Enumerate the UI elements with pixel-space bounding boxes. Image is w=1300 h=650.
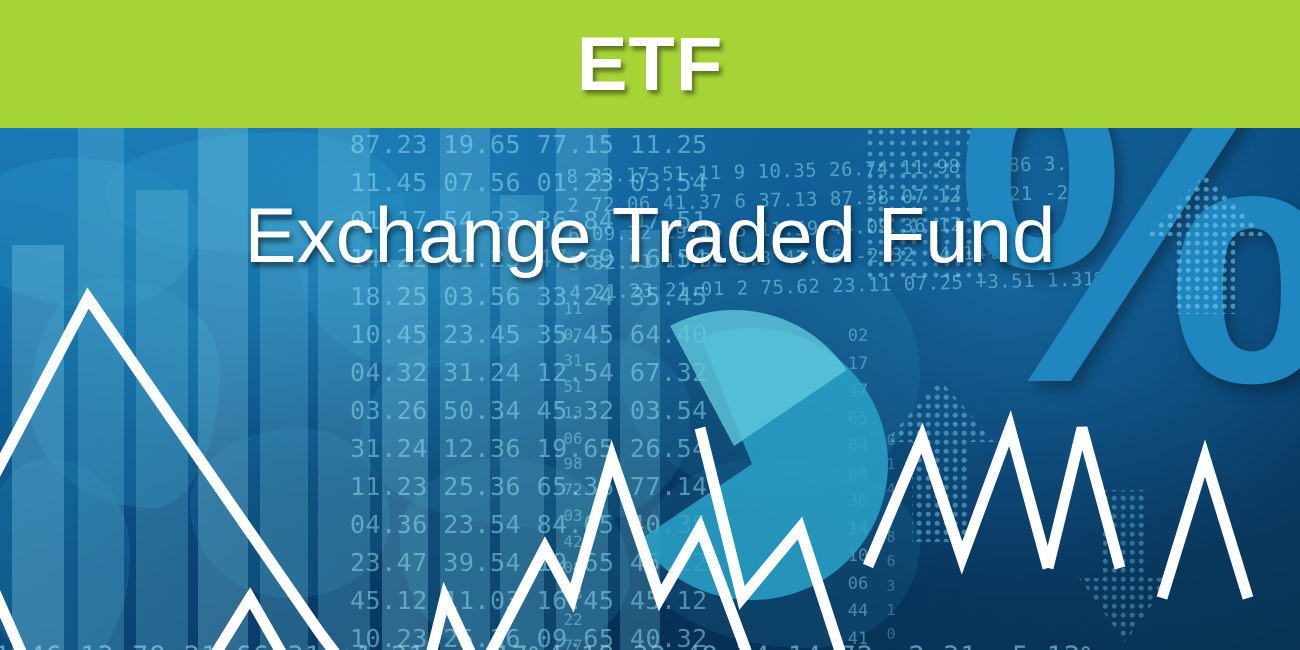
page-title: ETF: [0, 0, 1300, 128]
header-band: ETF: [0, 0, 1300, 128]
hero-title: Exchange Traded Fund: [0, 190, 1300, 281]
etf-banner: 87.23 19.65 77.15 11.2511.45 07.56 01.23…: [0, 0, 1300, 650]
